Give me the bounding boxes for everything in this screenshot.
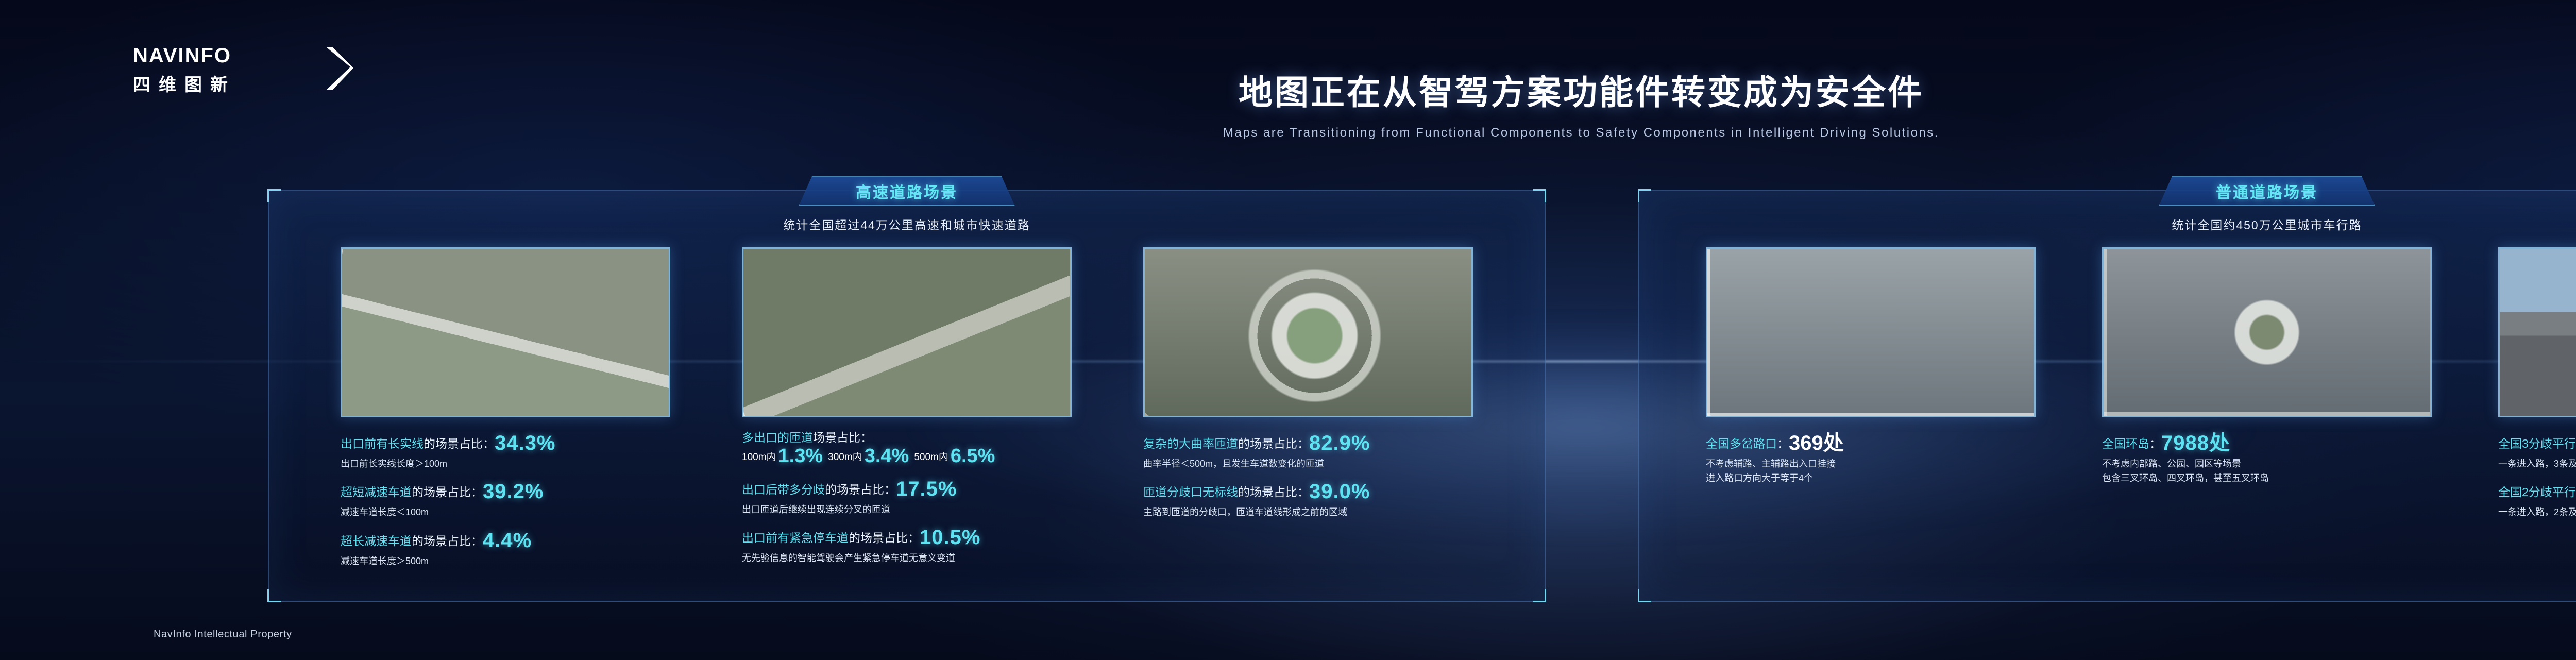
fact-list: 出口前有长实线的场景占比：34.3%出口前长实线长度＞100m超短减速车道的场景… <box>341 431 670 567</box>
fact-label: 匝道分歧口无标线的场景占比：39.0% <box>1143 479 1473 504</box>
fact-value: 39.0% <box>1309 480 1370 503</box>
corner-bl <box>267 589 281 602</box>
fact-value: 7988处 <box>2161 432 2230 454</box>
satellite-roundabout-image <box>2104 249 2430 416</box>
fact-label-highlight: 全国多岔路口 <box>1706 437 1777 450</box>
fact-item: 出口前有紧急停车道的场景占比：10.5%无先验信息的智能驾驶会产生紧急停车道无意… <box>742 525 1072 564</box>
fact-list: 多出口的匝道场景占比：100m内1.3%300m内3.4%500m内6.5%出口… <box>742 431 1072 564</box>
fact-item: 全国2分歧平行退出路：48125处一条进入路，2条及以上近似平行退出路 <box>2498 479 2576 518</box>
page-title: 地图正在从智驾方案功能件转变成为安全件 <box>0 65 2576 114</box>
card-row-urban: 全国多岔路口：369处不考虑辅路、主辅路出入口挂接进入路口方向大于等于4个全国环… <box>1639 247 2576 528</box>
panel-subtitle-urban: 统计全国约450万公里城市车行路 <box>1639 215 2576 233</box>
fact-value: 4.4% <box>483 529 532 552</box>
fact-note: 包含三叉环岛、四叉环岛，甚至五叉环岛 <box>2102 472 2432 484</box>
fact-item: 匝道分歧口无标线的场景占比：39.0%主路到匝道的分歧口，匝道车道线形成之前的区… <box>1143 479 1473 518</box>
fact-value: 10.5% <box>920 526 980 549</box>
fact-label-highlight: 出口前有紧急停车道 <box>742 531 849 545</box>
fact-label: 全国3分歧平行退出路：1395处 <box>2498 431 2576 455</box>
fact-label: 全国多岔路口：369处 <box>1706 431 2036 455</box>
fact-label-highlight: 全国3分歧平行退出路 <box>2498 437 2576 450</box>
fact-label-highlight: 出口前有长实线 <box>341 437 423 450</box>
fact-inline-label: 500m内 <box>914 452 948 463</box>
scenario-card: 复杂的大曲率匝道的场景占比：82.9%曲率半径＜500m，且发生车道数变化的匝道… <box>1143 247 1473 577</box>
panel-tab-highway[interactable]: 高速道路场景 <box>799 176 1015 206</box>
fact-label: 复杂的大曲率匝道的场景占比：82.9% <box>1143 431 1473 455</box>
fact-label-highlight: 匝道分歧口无标线 <box>1143 485 1238 499</box>
corner-tr <box>1533 189 1546 202</box>
corner-br <box>1533 589 1546 602</box>
fact-note: 不考虑内部路、公园、园区等场景 <box>2102 458 2432 470</box>
fact-note: 减速车道长度＜100m <box>341 506 670 518</box>
satellite-multi-ramp-image <box>743 249 1070 416</box>
scenario-card: 全国3分歧平行退出路：1395处一条进入路，3条及以上近似平行退出路全国2分歧平… <box>2498 247 2576 528</box>
fact-note: 一条进入路，2条及以上近似平行退出路 <box>2498 506 2576 518</box>
corner-tl <box>267 189 281 202</box>
fact-note: 曲率半径＜500m，且发生车道数变化的匝道 <box>1143 458 1473 470</box>
corner-tl <box>1638 189 1651 202</box>
fact-note: 进入路口方向大于等于4个 <box>1706 472 2036 484</box>
card-row-highway: 出口前有长实线的场景占比：34.3%出口前长实线长度＞100m超短减速车道的场景… <box>269 247 1545 577</box>
fact-label: 出口后带多分歧的场景占比：17.5% <box>742 477 1072 501</box>
fact-item: 多出口的匝道场景占比：100m内1.3%300m内3.4%500m内6.5% <box>742 431 1072 467</box>
fact-value: 34.3% <box>495 432 555 454</box>
fact-label: 超短减速车道的场景占比：39.2% <box>341 479 670 504</box>
fact-label-highlight: 全国2分歧平行退出路 <box>2498 485 2576 499</box>
dashcam-overpass-image <box>2500 249 2576 416</box>
fact-label: 出口前有长实线的场景占比：34.3% <box>341 431 670 455</box>
corner-bl <box>1638 589 1651 602</box>
fact-label-highlight: 多出口的匝道 <box>742 431 813 444</box>
fact-note: 一条进入路，3条及以上近似平行退出路 <box>2498 458 2576 470</box>
satellite-city-intersection-image <box>1707 249 2034 416</box>
fact-list: 全国3分歧平行退出路：1395处一条进入路，3条及以上近似平行退出路全国2分歧平… <box>2498 431 2576 519</box>
footer-note: NavInfo Intellectual Property <box>154 629 292 640</box>
scenario-thumbnail <box>742 247 1072 417</box>
fact-item: 超长减速车道的场景占比：4.4%减速车道长度＞500m <box>341 528 670 567</box>
fact-label: 多出口的匝道场景占比： <box>742 431 1072 445</box>
fact-label-highlight: 全国环岛 <box>2102 437 2149 450</box>
fact-inline-label: 300m内 <box>828 452 862 463</box>
fact-note: 出口前长实线长度＞100m <box>341 458 670 470</box>
fact-value: 39.2% <box>483 480 544 503</box>
fact-note: 主路到匝道的分歧口，匝道车道线形成之前的区域 <box>1143 506 1473 518</box>
satellite-interchange-image <box>1145 249 1471 416</box>
fact-note: 不考虑辅路、主辅路出入口挂接 <box>1706 458 2036 470</box>
fact-list: 全国多岔路口：369处不考虑辅路、主辅路出入口挂接进入路口方向大于等于4个 <box>1706 431 2036 485</box>
fact-value: 82.9% <box>1309 432 1370 454</box>
scenario-thumbnail <box>1706 247 2036 417</box>
fact-note: 减速车道长度＞500m <box>341 555 670 567</box>
fact-inline-value: 3.4% <box>865 445 909 467</box>
fact-item: 出口后带多分歧的场景占比：17.5%出口匝道后继续出现连续分叉的匝道 <box>742 477 1072 516</box>
fact-item: 复杂的大曲率匝道的场景占比：82.9%曲率半径＜500m，且发生车道数变化的匝道 <box>1143 431 1473 470</box>
fact-value: 17.5% <box>896 478 957 500</box>
fact-inline-value: 1.3% <box>778 445 823 467</box>
scenario-thumbnail <box>1143 247 1473 417</box>
fact-note: 无先验信息的智能驾驶会产生紧急停车道无意义变道 <box>742 552 1072 564</box>
satellite-highway-exit-image <box>342 249 669 416</box>
fact-item: 出口前有长实线的场景占比：34.3%出口前长实线长度＞100m <box>341 431 670 470</box>
scenario-thumbnail <box>2102 247 2432 417</box>
fact-inline-value: 6.5% <box>951 445 995 467</box>
scenario-thumbnail <box>2498 247 2576 417</box>
fact-label: 全国环岛：7988处 <box>2102 431 2432 455</box>
fact-label: 超长减速车道的场景占比：4.4% <box>341 528 670 553</box>
scenario-card: 出口前有长实线的场景占比：34.3%出口前长实线长度＞100m超短减速车道的场景… <box>341 247 670 577</box>
fact-label: 全国2分歧平行退出路：48125处 <box>2498 479 2576 504</box>
panel-tab-label: 高速道路场景 <box>856 180 958 202</box>
scenario-thumbnail <box>341 247 670 417</box>
fact-inline-label: 100m内 <box>742 452 776 463</box>
panel-tab-urban[interactable]: 普通道路场景 <box>2159 176 2375 206</box>
fact-label: 出口前有紧急停车道的场景占比：10.5% <box>742 525 1072 550</box>
fact-value: 369处 <box>1789 432 1844 454</box>
title-block: 地图正在从智驾方案功能件转变成为安全件 Maps are Transitioni… <box>0 65 2576 140</box>
logo-latin-text: NAVINFO <box>133 44 349 67</box>
fact-inline-values: 100m内1.3%300m内3.4%500m内6.5% <box>742 445 1072 467</box>
fact-label-highlight: 超长减速车道 <box>341 534 412 548</box>
fact-label-highlight: 复杂的大曲率匝道 <box>1143 437 1238 450</box>
fact-item: 全国多岔路口：369处不考虑辅路、主辅路出入口挂接进入路口方向大于等于4个 <box>1706 431 2036 485</box>
fact-list: 复杂的大曲率匝道的场景占比：82.9%曲率半径＜500m，且发生车道数变化的匝道… <box>1143 431 1473 519</box>
panel-highway: 高速道路场景 统计全国超过44万公里高速和城市快速道路 出口前有长实线的场景占比… <box>268 190 1546 602</box>
scenario-card: 多出口的匝道场景占比：100m内1.3%300m内3.4%500m内6.5%出口… <box>742 247 1072 577</box>
scenario-card: 全国多岔路口：369处不考虑辅路、主辅路出入口挂接进入路口方向大于等于4个 <box>1706 247 2036 528</box>
panel-subtitle-highway: 统计全国超过44万公里高速和城市快速道路 <box>269 215 1545 233</box>
fact-item: 全国3分歧平行退出路：1395处一条进入路，3条及以上近似平行退出路 <box>2498 431 2576 470</box>
fact-list: 全国环岛：7988处不考虑内部路、公园、园区等场景包含三叉环岛、四叉环岛，甚至五… <box>2102 431 2432 485</box>
panel-tab-label: 普通道路场景 <box>2216 180 2318 202</box>
page-subtitle: Maps are Transitioning from Functional C… <box>0 126 2576 140</box>
scenario-card: 全国环岛：7988处不考虑内部路、公园、园区等场景包含三叉环岛、四叉环岛，甚至五… <box>2102 247 2432 528</box>
fact-label-highlight: 出口后带多分歧 <box>742 483 825 496</box>
fact-item: 超短减速车道的场景占比：39.2%减速车道长度＜100m <box>341 479 670 518</box>
fact-note: 出口匝道后继续出现连续分叉的匝道 <box>742 503 1072 516</box>
panel-urban: 普通道路场景 统计全国约450万公里城市车行路 全国多岔路口：369处不考虑辅路… <box>1638 190 2576 602</box>
fact-label-highlight: 超短减速车道 <box>341 485 412 499</box>
fact-item: 全国环岛：7988处不考虑内部路、公园、园区等场景包含三叉环岛、四叉环岛，甚至五… <box>2102 431 2432 485</box>
